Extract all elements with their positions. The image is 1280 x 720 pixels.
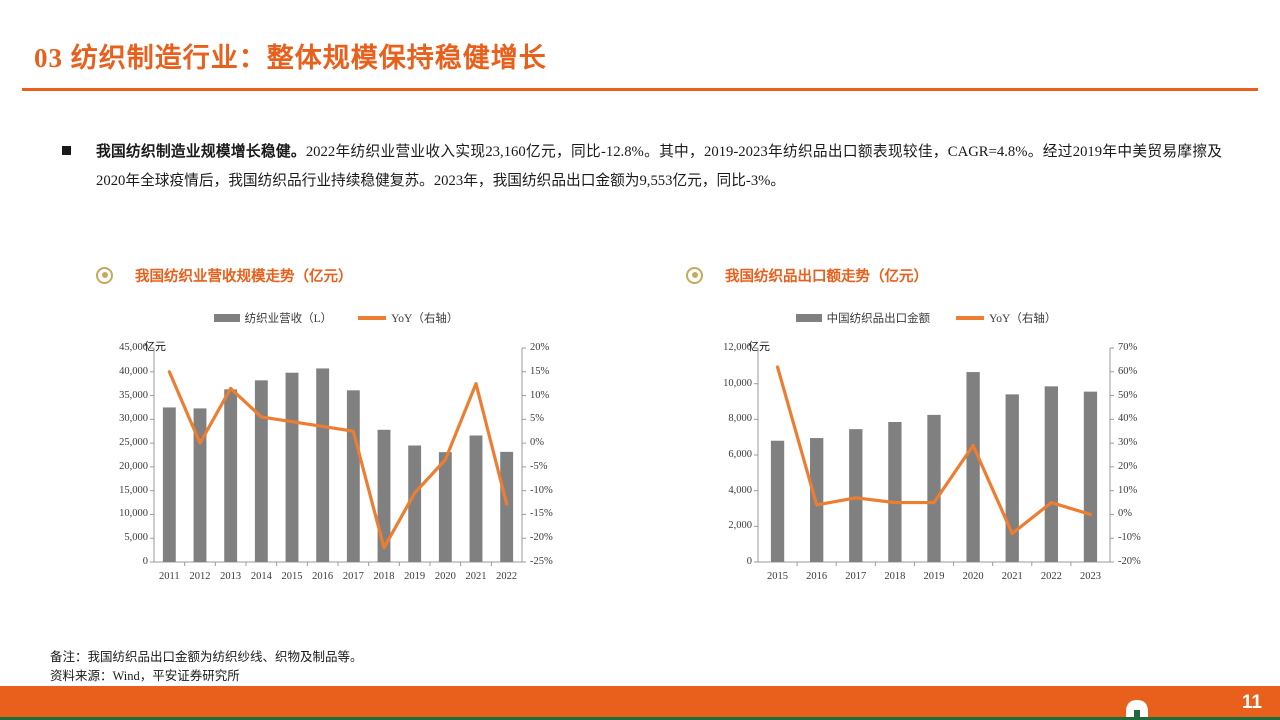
- title-divider: [22, 88, 1258, 91]
- chart-panel-export: 我国纺织品出口额走势（亿元） 中国纺织品出口金额 YoY（右轴） 亿元 12,0…: [686, 262, 1166, 590]
- page-number: 11: [1242, 692, 1262, 714]
- legend-line-swatch-icon: [358, 316, 386, 320]
- footnotes: 备注：我国纺织品出口金额为纺织纱线、织物及制品等。 资料来源：Wind，平安证券…: [50, 648, 363, 686]
- legend-item-bar-revenue: 纺织业营收（L）: [214, 310, 333, 326]
- chart-panel-revenue: 我国纺织业营收规模走势（亿元） 纺织业营收（L） YoY（右轴） 亿元 45,0…: [96, 262, 576, 590]
- chart-title-revenue: 我国纺织业营收规模走势（亿元）: [135, 265, 353, 286]
- chart-plot-export: 亿元 12,00010,0008,0006,0004,0002,000070%6…: [686, 340, 1166, 590]
- chart-panel-export-header: 我国纺织品出口额走势（亿元）: [686, 262, 1166, 288]
- body-paragraph: 我国纺织制造业规模增长稳健。2022年纺织业营业收入实现23,160亿元，同比-…: [96, 138, 1222, 196]
- legend-item-line-export: YoY（右轴）: [956, 310, 1056, 326]
- legend-label-bar-revenue: 纺织业营收（L）: [245, 310, 333, 326]
- bullseye-icon: [96, 267, 113, 284]
- footer-bar: [0, 686, 1280, 720]
- body-lead-sentence: 我国纺织制造业规模增长稳健。: [96, 144, 306, 160]
- bullet-square-icon: [62, 146, 71, 155]
- chart-title-export: 我国纺织品出口额走势（亿元）: [725, 265, 928, 286]
- footnote-source: 资料来源：Wind，平安证券研究所: [50, 667, 363, 686]
- body-paragraph-block: 我国纺织制造业规模增长稳健。2022年纺织业营业收入实现23,160亿元，同比-…: [62, 138, 1222, 196]
- footnote-remark: 备注：我国纺织品出口金额为纺织纱线、织物及制品等。: [50, 648, 363, 667]
- page-title: 03 纺织制造行业：整体规模保持稳健增长: [34, 36, 547, 75]
- legend-item-bar-export: 中国纺织品出口金额: [796, 310, 931, 326]
- legend-item-line-revenue: YoY（右轴）: [358, 310, 458, 326]
- legend-bar-swatch-icon: [214, 314, 240, 322]
- chart-svg: [686, 340, 1166, 590]
- legend-label-line-revenue: YoY（右轴）: [391, 310, 458, 326]
- legend-line-swatch-icon: [956, 316, 984, 320]
- chart-legend-export: 中国纺织品出口金额 YoY（右轴）: [686, 310, 1166, 326]
- legend-label-bar-export: 中国纺织品出口金额: [827, 310, 931, 326]
- chart-plot-revenue: 亿元 45,00040,00035,00030,00025,00020,0001…: [96, 340, 576, 590]
- legend-label-line-export: YoY（右轴）: [989, 310, 1056, 326]
- chart-panel-revenue-header: 我国纺织业营收规模走势（亿元）: [96, 262, 576, 288]
- bullseye-icon: [686, 267, 703, 284]
- chart-svg: [96, 340, 576, 590]
- chart-legend-revenue: 纺织业营收（L） YoY（右轴）: [96, 310, 576, 326]
- legend-bar-swatch-icon: [796, 314, 822, 322]
